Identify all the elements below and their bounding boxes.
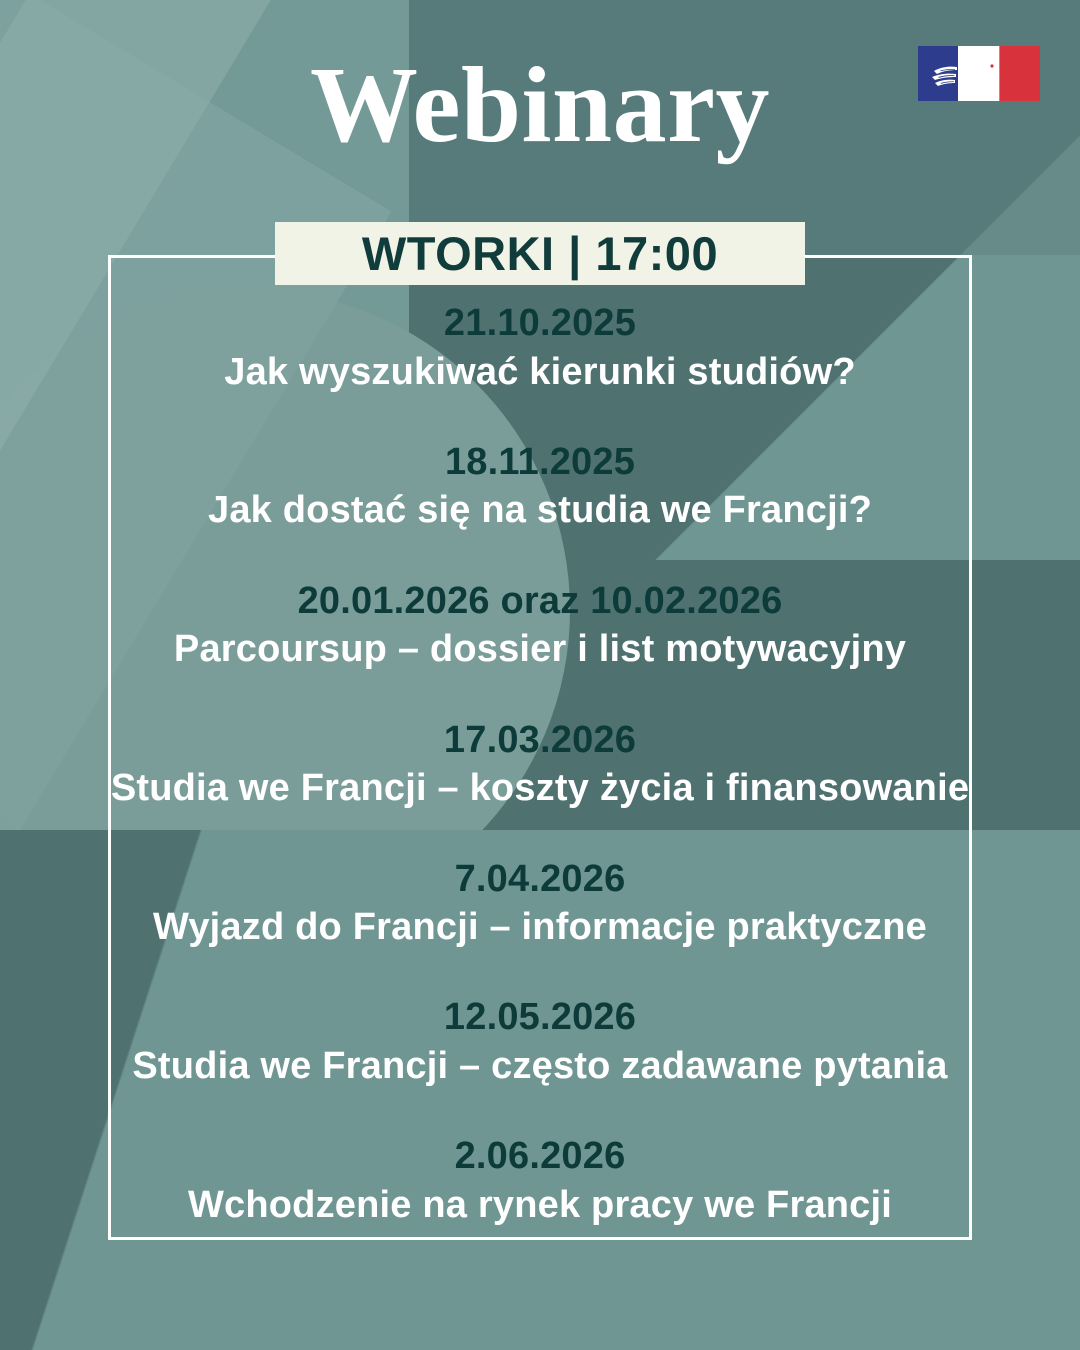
list-item: 12.05.2026 Studia we Francji – często za… bbox=[108, 994, 972, 1091]
webinar-schedule-poster: Webinary WTORKI | 17:00 bbox=[0, 0, 1080, 1350]
list-item: 2.06.2026 Wchodzenie na rynek pracy we F… bbox=[108, 1133, 972, 1230]
schedule-day-time-banner: WTORKI | 17:00 bbox=[275, 222, 805, 285]
webinar-title: Jak dostać się na studia we Francji? bbox=[108, 486, 972, 535]
webinar-date: 12.05.2026 bbox=[108, 994, 972, 1042]
list-item: 18.11.2025 Jak dostać się na studia we F… bbox=[108, 439, 972, 536]
webinar-date: 20.01.2026 oraz 10.02.2026 bbox=[108, 578, 972, 626]
list-item: 7.04.2026 Wyjazd do Francji – informacje… bbox=[108, 856, 972, 953]
list-item: 20.01.2026 oraz 10.02.2026 Parcoursup – … bbox=[108, 578, 972, 675]
webinar-title: Wchodzenie na rynek pracy we Francji bbox=[108, 1181, 972, 1230]
webinar-title: Studia we Francji – często zadawane pyta… bbox=[108, 1042, 972, 1091]
banner-label: WTORKI | 17:00 bbox=[362, 226, 718, 281]
list-item: 21.10.2025 Jak wyszukiwać kierunki studi… bbox=[108, 300, 972, 397]
webinar-date: 7.04.2026 bbox=[108, 856, 972, 904]
list-item: 17.03.2026 Studia we Francji – koszty ży… bbox=[108, 717, 972, 814]
webinar-title: Studia we Francji – koszty życia i finan… bbox=[108, 764, 972, 813]
webinar-date: 2.06.2026 bbox=[108, 1133, 972, 1181]
webinar-title: Parcoursup – dossier i list motywacyjny bbox=[108, 625, 972, 674]
webinar-schedule-list: 21.10.2025 Jak wyszukiwać kierunki studi… bbox=[108, 300, 972, 1230]
webinar-date: 18.11.2025 bbox=[108, 439, 972, 487]
webinar-title: Jak wyszukiwać kierunki studiów? bbox=[108, 348, 972, 397]
webinar-date: 21.10.2025 bbox=[108, 300, 972, 348]
webinar-title: Wyjazd do Francji – informacje praktyczn… bbox=[108, 903, 972, 952]
webinar-date: 17.03.2026 bbox=[108, 717, 972, 765]
marianne-french-republic-logo bbox=[918, 46, 1040, 101]
